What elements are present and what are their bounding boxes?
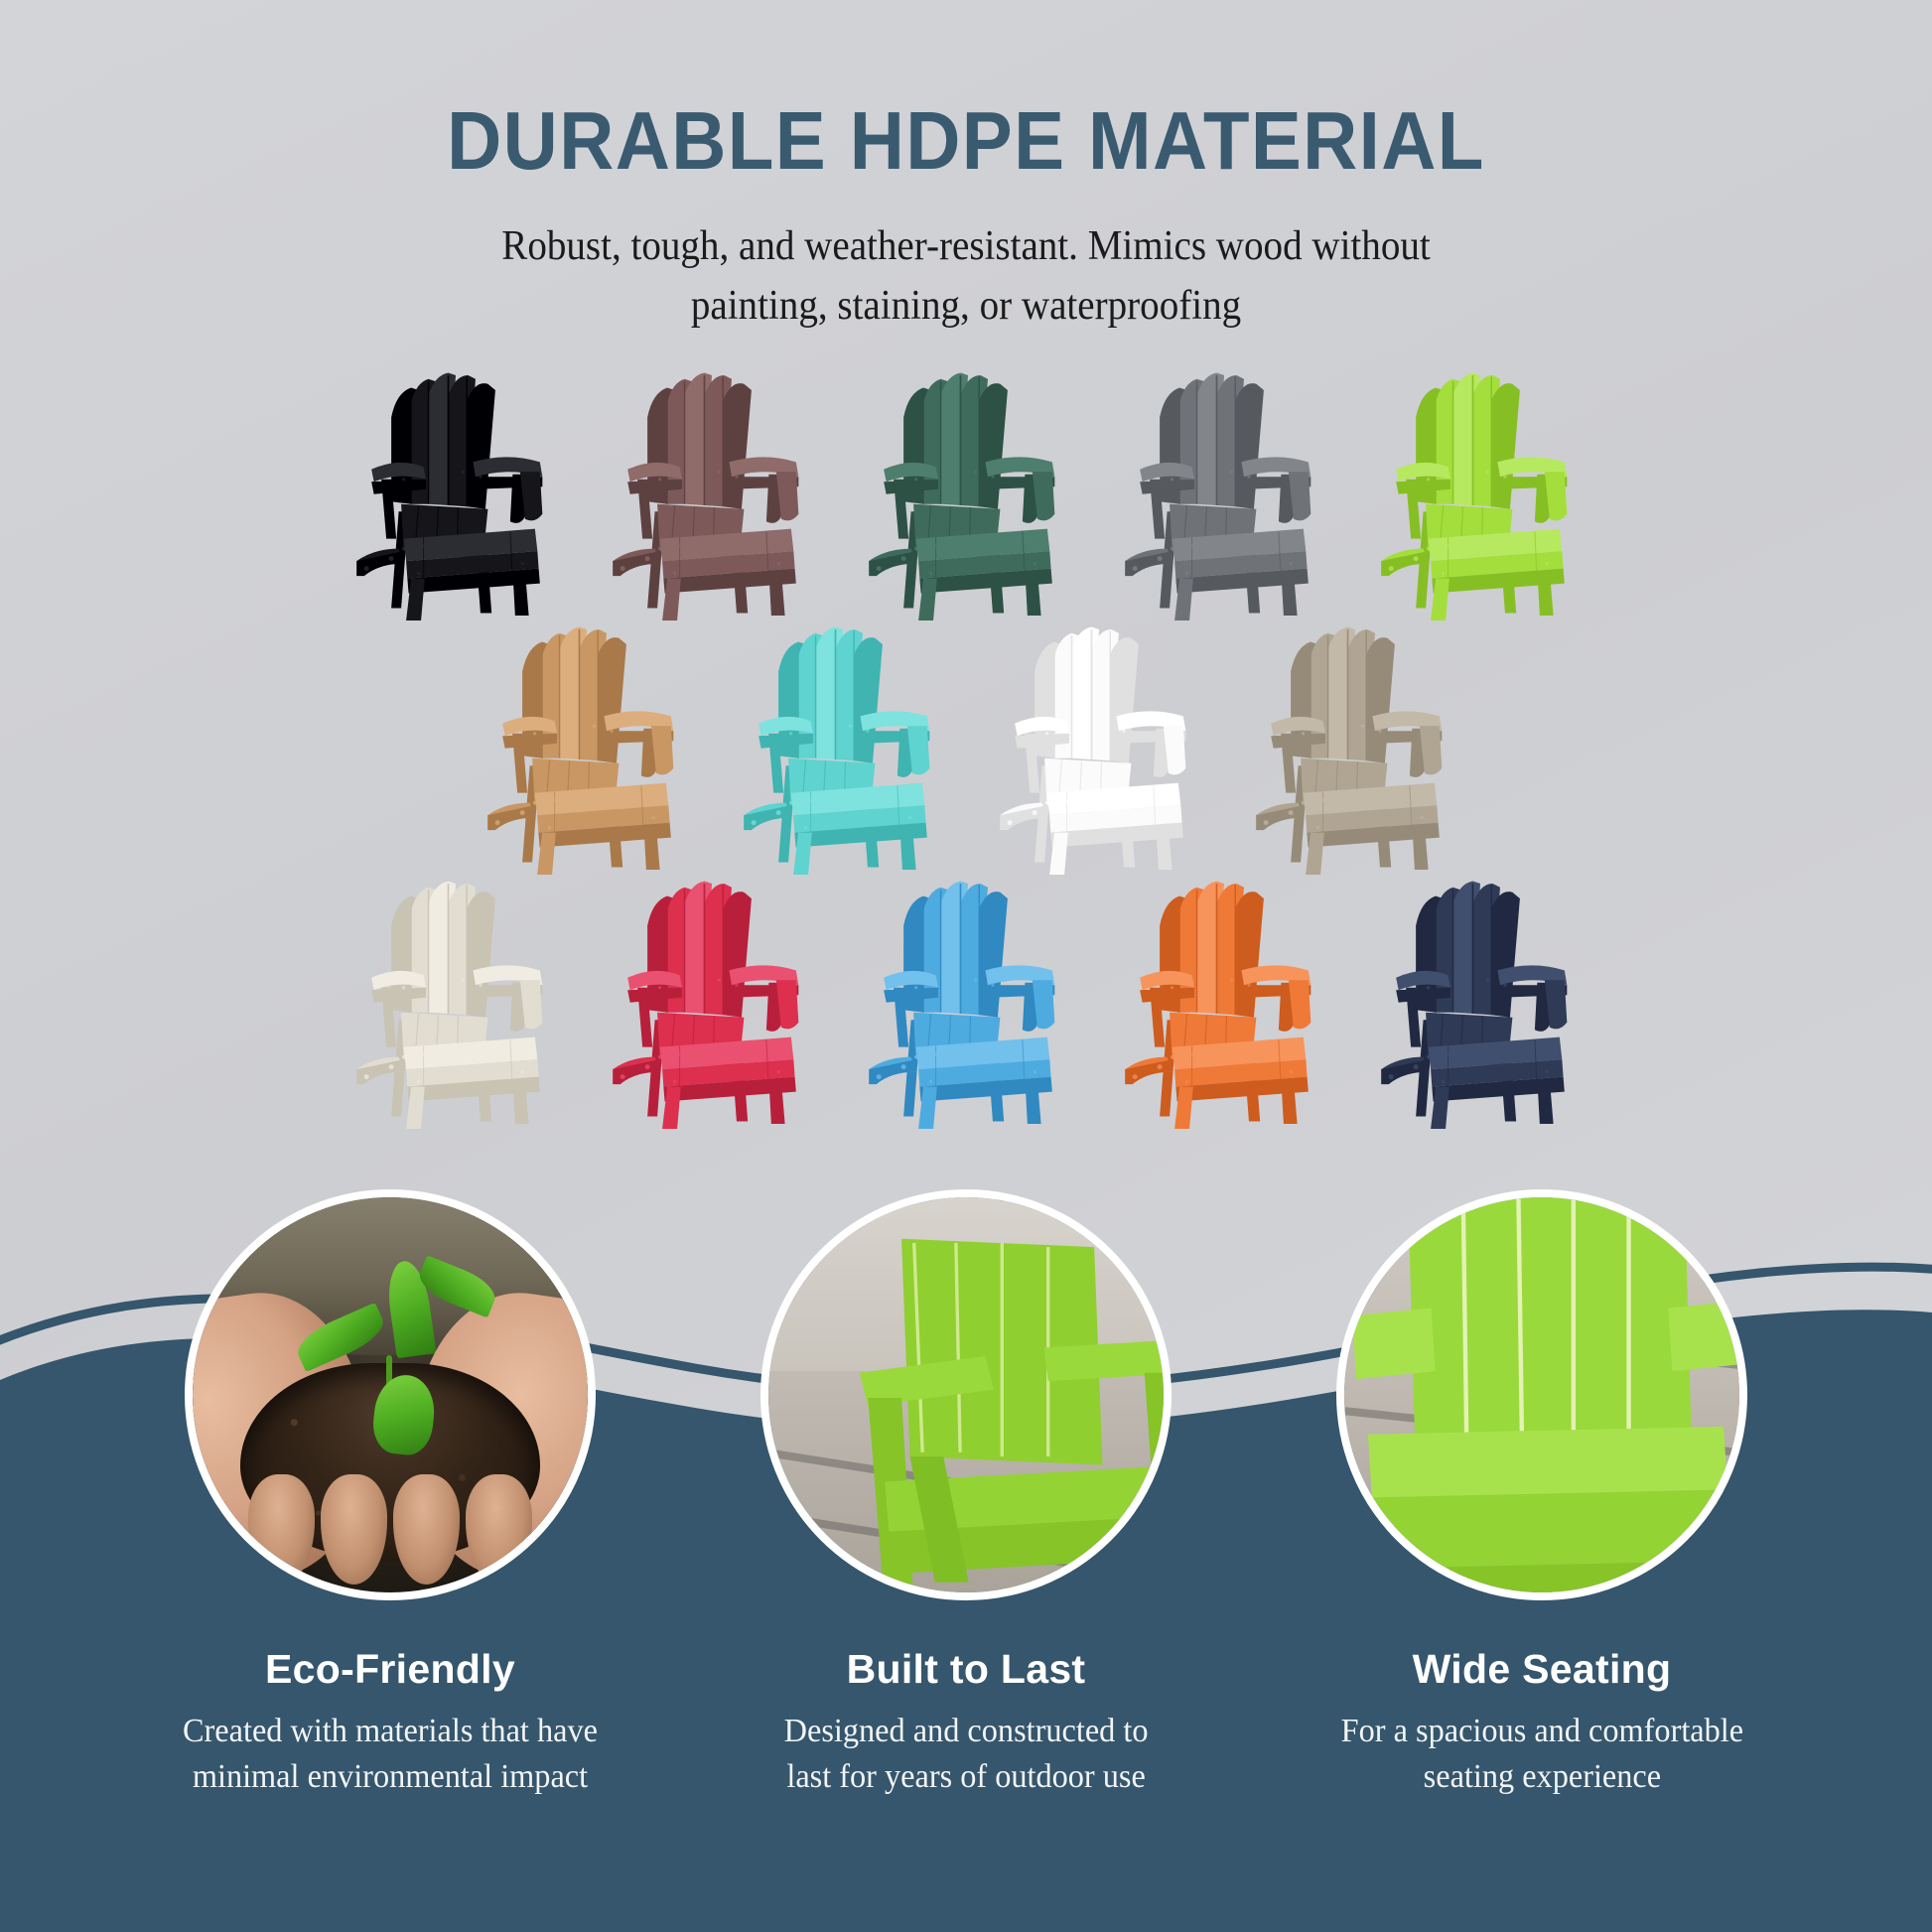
adirondack-chair-ivory: [323, 874, 579, 1134]
chair-swatch-red[interactable]: [579, 874, 835, 1134]
chair-row-2: [0, 620, 1932, 880]
adirondack-chair-turquoise: [710, 620, 966, 880]
chair-row-3: [0, 874, 1932, 1134]
chair-swatch-ivory[interactable]: [323, 874, 579, 1134]
chair-color-grid: [0, 365, 1932, 1134]
chair-swatch-dark-green[interactable]: [835, 365, 1091, 625]
photo-lime-adirondack-chair-on-patio: [760, 1189, 1172, 1600]
chair-swatch-taupe[interactable]: [1222, 620, 1478, 880]
subtitle-line-1: Robust, tough, and weather-resistant. Mi…: [68, 217, 1864, 277]
adirondack-chair-teak: [454, 620, 710, 880]
feature-description: For a spacious and comfortable seating e…: [1340, 1709, 1742, 1799]
feature-description: Created with materials that have minimal…: [183, 1709, 598, 1799]
adirondack-chair-light-blue: [835, 874, 1091, 1134]
adirondack-chair-black: [323, 365, 579, 625]
feature-description: Designed and constructed to last for yea…: [784, 1709, 1149, 1799]
adirondack-chair-gray: [1091, 365, 1347, 625]
chair-swatch-orange[interactable]: [1091, 874, 1347, 1134]
adirondack-chair-orange: [1091, 874, 1347, 1134]
chair-row-1: [0, 365, 1932, 625]
chair-swatch-gray[interactable]: [1091, 365, 1347, 625]
chair-swatch-navy[interactable]: [1347, 874, 1603, 1134]
chair-swatch-lime[interactable]: [1347, 365, 1603, 625]
page-subtitle: Robust, tough, and weather-resistant. Mi…: [68, 217, 1864, 336]
chair-swatch-white[interactable]: [966, 620, 1222, 880]
feature-title: Wide Seating: [1413, 1646, 1672, 1693]
chair-swatch-black[interactable]: [323, 365, 579, 625]
lime-chair-seat-art: [1344, 1197, 1739, 1592]
feature-section: Eco-Friendly Created with materials that…: [0, 1189, 1932, 1799]
feature-wide-seating: Wide Seating For a spacious and comforta…: [1279, 1189, 1805, 1799]
feature-title: Built to Last: [847, 1646, 1086, 1693]
chair-swatch-brown[interactable]: [579, 365, 835, 625]
adirondack-chair-taupe: [1222, 620, 1478, 880]
page-title: DURABLE HDPE MATERIAL: [77, 0, 1855, 182]
feature-row: Eco-Friendly Created with materials that…: [0, 1189, 1932, 1799]
photo-lime-chair-seat-closeup: [1336, 1189, 1747, 1600]
header: DURABLE HDPE MATERIAL Robust, tough, and…: [0, 0, 1932, 336]
feature-built-to-last: Built to Last Designed and constructed t…: [703, 1189, 1229, 1799]
feature-eco-friendly: Eco-Friendly Created with materials that…: [127, 1189, 653, 1799]
feature-title: Eco-Friendly: [265, 1646, 515, 1693]
adirondack-chair-navy: [1347, 874, 1603, 1134]
chair-swatch-teak[interactable]: [454, 620, 710, 880]
adirondack-chair-brown: [579, 365, 835, 625]
adirondack-chair-red: [579, 874, 835, 1134]
subtitle-line-2: painting, staining, or waterproofing: [68, 277, 1864, 337]
photo-hands-holding-soil-with-seedling: [185, 1189, 596, 1600]
adirondack-chair-white: [966, 620, 1222, 880]
chair-swatch-turquoise[interactable]: [710, 620, 966, 880]
chair-swatch-light-blue[interactable]: [835, 874, 1091, 1134]
adirondack-chair-lime: [1347, 365, 1603, 625]
adirondack-chair-dark-green: [835, 365, 1091, 625]
lime-chair-photo-art: [768, 1197, 1164, 1592]
